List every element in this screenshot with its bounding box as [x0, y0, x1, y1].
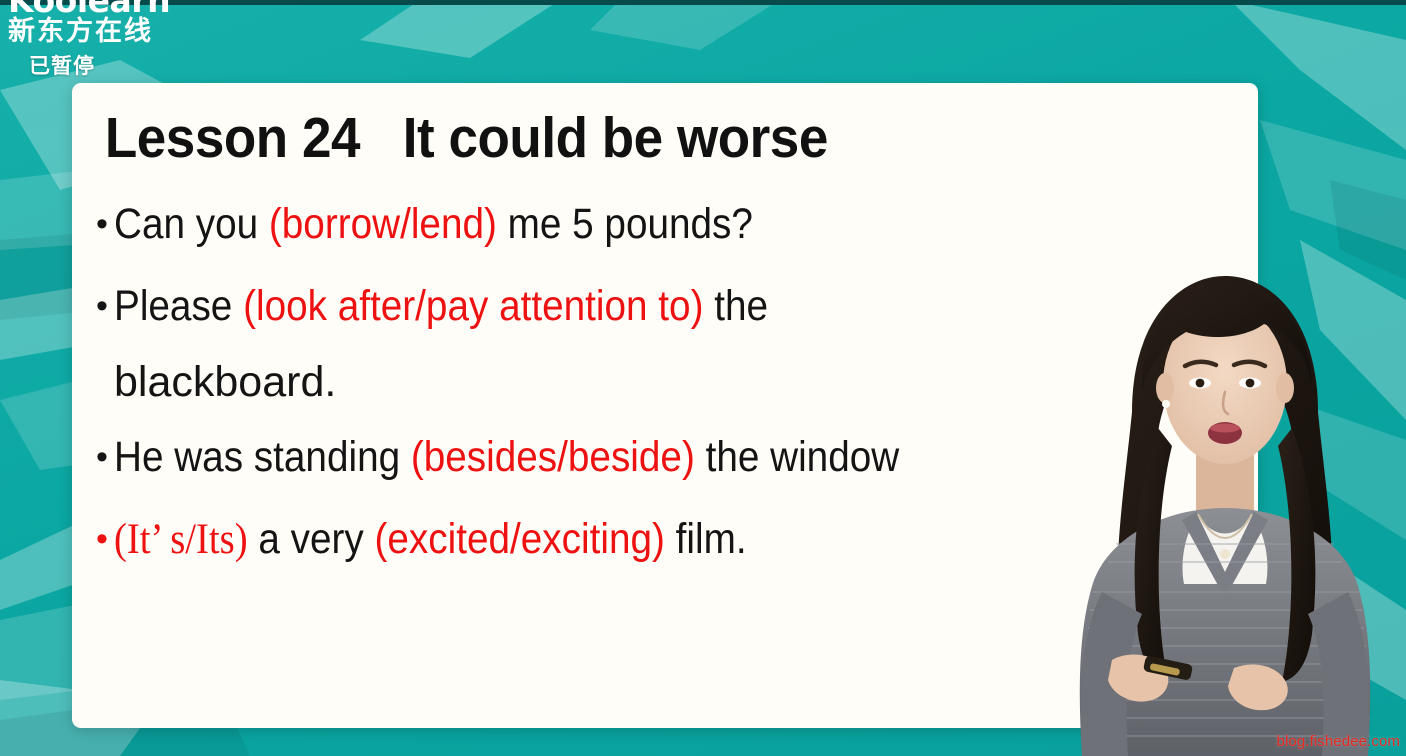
slide-title: Lesson 24 It could be worse	[90, 109, 1148, 169]
bullet-3-seg-2: the window	[695, 433, 899, 481]
logo-brand-cn: 新东方在线	[8, 18, 170, 45]
bullet-marker: •	[90, 518, 114, 561]
bullet-2-seg-2: the	[703, 282, 768, 330]
bullet-text-2: Please (look after/pay attention to) the	[114, 285, 1117, 329]
bullet-marker: •	[90, 203, 114, 246]
bullet-4-seg-3: film.	[665, 515, 747, 563]
bullet-2-seg-0: Please	[114, 282, 243, 330]
top-accent-strip	[0, 0, 1406, 5]
presenter-video-overlay	[1020, 262, 1406, 756]
bullet-4-seg-1: a very	[248, 515, 375, 563]
bullet-text-4: (It’ s/Its) a very (excited/exciting) fi…	[114, 518, 1117, 562]
site-watermark: blog.fishedee.com	[1277, 733, 1400, 750]
bullet-2-seg-1: (look after/pay attention to)	[243, 282, 703, 330]
video-player-frame: Koolearn 新东方在线 已暂停 Lesson 24 It could be…	[0, 0, 1406, 756]
bullet-3-seg-1: (besides/beside)	[411, 433, 695, 481]
bullet-text-1: Can you (borrow/lend) me 5 pounds?	[114, 203, 1117, 247]
bullet-1-seg-2: me 5 pounds?	[497, 200, 753, 248]
slide-bullet-1: • Can you (borrow/lend) me 5 pounds?	[90, 203, 1228, 247]
bullet-marker: •	[90, 436, 114, 479]
logo-brand-en: Koolearn	[8, 0, 170, 17]
koolearn-logo: Koolearn 新东方在线	[8, 0, 170, 45]
bullet-4-seg-0: (It’ s/Its)	[114, 516, 248, 563]
bullet-3-seg-0: He was standing	[114, 433, 411, 481]
bullet-marker: •	[90, 285, 114, 328]
bullet-1-seg-0: Can you	[114, 200, 269, 248]
bullet-text-3: He was standing (besides/beside) the win…	[114, 436, 1117, 480]
bullet-1-seg-1: (borrow/lend)	[269, 200, 497, 248]
bullet-4-seg-2: (excited/exciting)	[375, 515, 665, 563]
playback-status-label: 已暂停	[29, 50, 95, 80]
